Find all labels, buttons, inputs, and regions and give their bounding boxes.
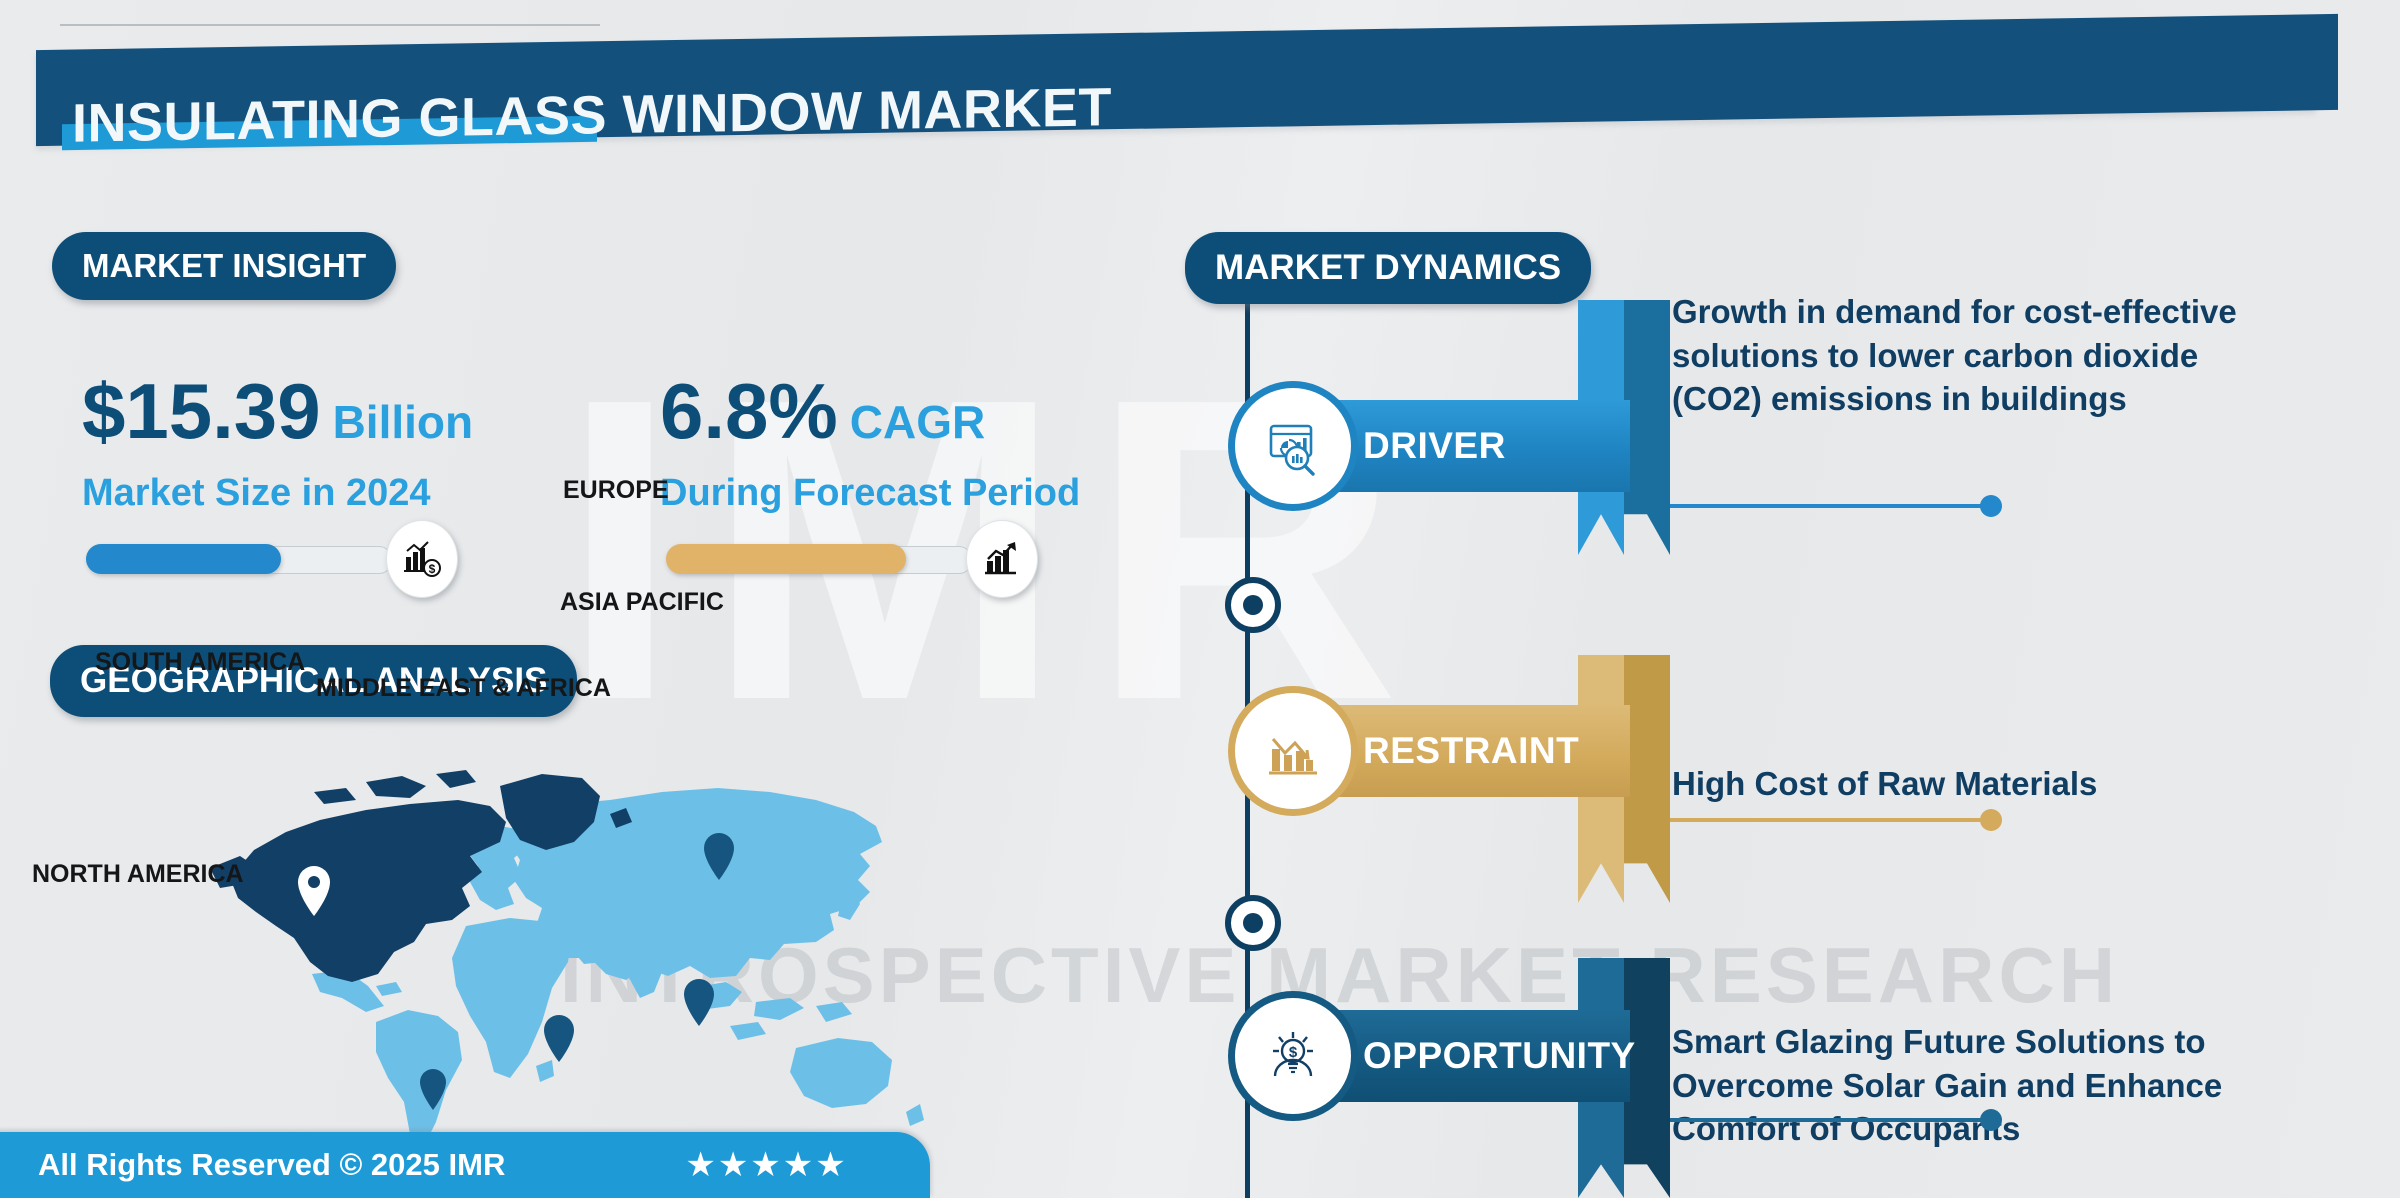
market-insight-pill: MARKET INSIGHT xyxy=(52,232,396,300)
restraint-rule xyxy=(1670,818,1990,822)
kpi-cagr-row: 6.8%CAGR xyxy=(660,372,1080,450)
driver-description: Growth in demand for cost-effective solu… xyxy=(1672,290,2292,421)
restraint-bar[interactable]: RESTRAINT xyxy=(1255,705,1630,797)
copyright-text: All Rights Reserved © 2025 IMR xyxy=(38,1147,505,1183)
timeline-node-2 xyxy=(1225,895,1281,951)
header-hairline xyxy=(60,24,600,26)
svg-text:$: $ xyxy=(429,562,436,576)
kpi-market-size-caption: Market Size in 2024 xyxy=(82,472,473,515)
market-size-progress-fill xyxy=(86,544,281,574)
map-label-asia-pacific: ASIA PACIFIC xyxy=(560,588,724,617)
market-insight-pill-label: MARKET INSIGHT xyxy=(82,247,366,285)
driver-rule xyxy=(1670,504,1990,508)
lightbulb-dollar-icon: $ xyxy=(1235,998,1351,1114)
market-dynamics-pill: MARKET DYNAMICS xyxy=(1185,232,1591,304)
kpi-cagr-unit: CAGR xyxy=(850,395,985,449)
timeline-node-1 xyxy=(1225,577,1281,633)
declining-bar-chart-icon xyxy=(1235,693,1351,809)
world-map xyxy=(170,730,1050,1150)
infographic-canvas: IMR INTROSPECTIVE MARKET RESEARCH INSULA… xyxy=(0,0,2400,1198)
kpi-cagr: 6.8%CAGR During Forecast Period xyxy=(660,372,1080,515)
opportunity-label: OPPORTUNITY xyxy=(1363,1035,1636,1077)
cagr-progress-fill xyxy=(666,544,906,574)
restraint-label: RESTRAINT xyxy=(1363,730,1579,772)
kpi-market-size-unit: Billion xyxy=(333,395,474,449)
kpi-market-size: $15.39Billion Market Size in 2024 xyxy=(82,372,473,515)
bar-chart-dollar-icon: $ xyxy=(386,520,458,598)
driver-bar[interactable]: DRIVER xyxy=(1255,400,1630,492)
map-label-south-america: SOUTH AMERICA xyxy=(95,648,305,677)
opportunity-rule xyxy=(1670,1118,1990,1122)
opportunity-description: Smart Glazing Future Solutions to Overco… xyxy=(1672,1020,2292,1151)
map-label-north-america: NORTH AMERICA xyxy=(32,860,244,889)
map-label-europe: EUROPE xyxy=(563,476,669,505)
growth-arrow-chart-icon xyxy=(966,520,1038,598)
market-dynamics-pill-label: MARKET DYNAMICS xyxy=(1215,248,1561,288)
analytics-magnifier-icon xyxy=(1235,388,1351,504)
kpi-market-size-value: $15.39 xyxy=(82,372,321,450)
kpi-cagr-caption: During Forecast Period xyxy=(660,472,1080,515)
opportunity-bar[interactable]: $ OPPORTUNITY xyxy=(1255,1010,1630,1102)
kpi-market-size-row: $15.39Billion xyxy=(82,372,473,450)
driver-label: DRIVER xyxy=(1363,425,1506,467)
restraint-description: High Cost of Raw Materials xyxy=(1672,762,2312,806)
footer-bar: All Rights Reserved © 2025 IMR ★★★★★ xyxy=(0,1132,930,1198)
kpi-cagr-value: 6.8% xyxy=(660,372,838,450)
svg-text:$: $ xyxy=(1289,1044,1298,1061)
map-label-middle-east-africa: MIDDLE EAST & AFRICA xyxy=(316,674,611,703)
star-rating-icon: ★★★★★ xyxy=(685,1145,847,1185)
